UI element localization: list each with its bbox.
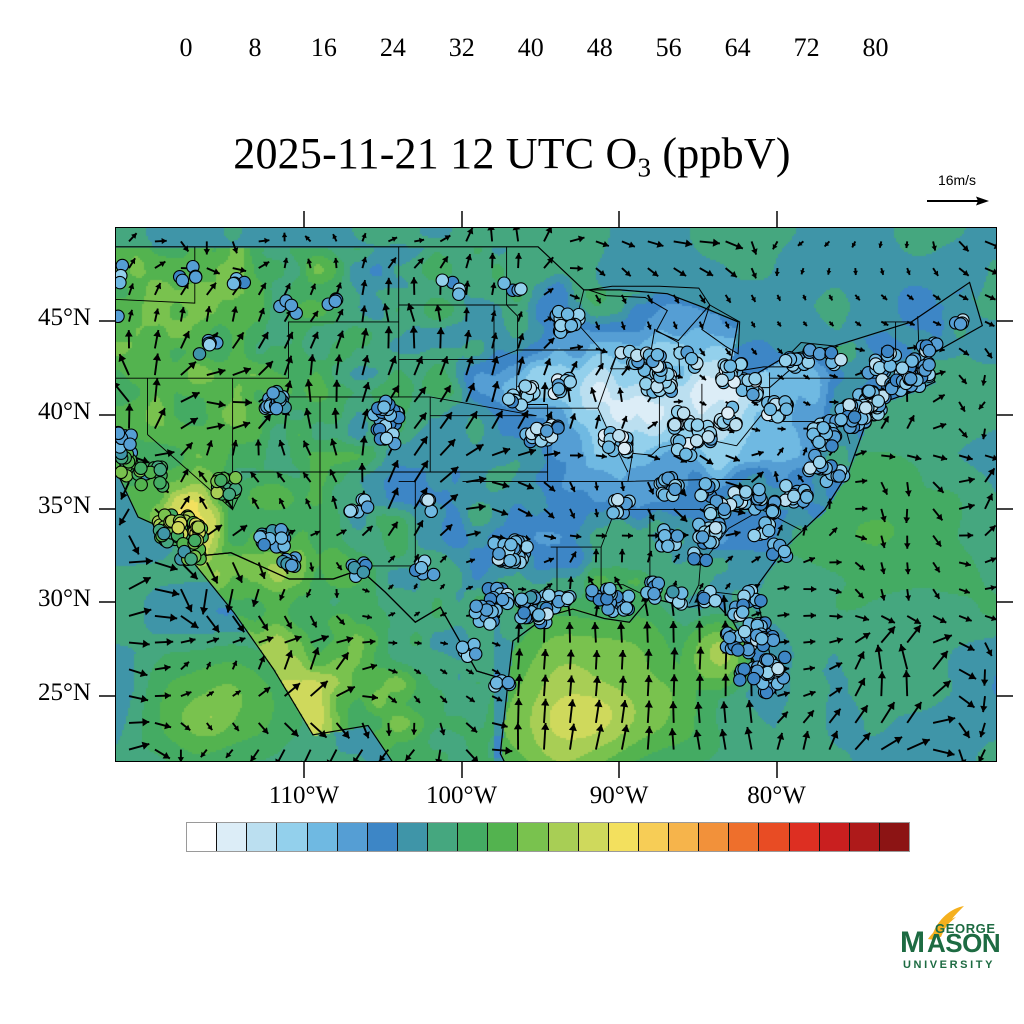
colorbar-cell bbox=[518, 823, 548, 851]
colorbar-cell bbox=[729, 823, 759, 851]
station-marker bbox=[286, 559, 298, 571]
station-marker bbox=[505, 538, 517, 550]
station-marker bbox=[826, 440, 838, 452]
colorbar-tick-label: 32 bbox=[449, 33, 475, 63]
wind-vector-head bbox=[670, 674, 678, 681]
colorbar-cell bbox=[850, 823, 880, 851]
wind-vector-head bbox=[775, 272, 780, 276]
station-marker bbox=[698, 592, 710, 604]
station-marker bbox=[843, 399, 855, 411]
wind-vector-head bbox=[305, 379, 313, 386]
station-marker bbox=[189, 534, 201, 546]
station-marker bbox=[515, 283, 527, 295]
station-marker bbox=[704, 508, 716, 520]
wind-vector-head bbox=[515, 674, 523, 681]
station-marker bbox=[223, 488, 235, 500]
wind-vector-head bbox=[372, 694, 378, 701]
wind-vector-head bbox=[410, 277, 418, 283]
station-marker bbox=[748, 529, 760, 541]
wind-vector-head bbox=[948, 716, 956, 724]
wind-vector-head bbox=[694, 702, 702, 709]
wind-vector-head bbox=[363, 382, 371, 390]
station-marker bbox=[586, 584, 598, 596]
title-subscript: 3 bbox=[638, 153, 652, 183]
wind-vector-head bbox=[492, 381, 500, 389]
wind-vector-head bbox=[596, 724, 604, 732]
station-marker bbox=[923, 359, 935, 371]
colorbar-cell bbox=[790, 823, 820, 851]
station-marker bbox=[863, 385, 875, 397]
longitude-tick bbox=[618, 211, 620, 227]
wind-vector-head bbox=[862, 506, 867, 512]
wind-vector-head bbox=[968, 503, 975, 510]
wind-vector bbox=[327, 750, 336, 762]
wind-vector-head bbox=[899, 644, 907, 652]
station-marker bbox=[718, 503, 730, 515]
station-marker bbox=[772, 662, 784, 674]
latitude-tick bbox=[99, 601, 115, 603]
wind-vector-head bbox=[162, 238, 167, 244]
wind-vector-head bbox=[567, 577, 573, 583]
wind-vector-head bbox=[465, 254, 472, 260]
station-marker bbox=[618, 442, 630, 454]
station-marker bbox=[730, 418, 742, 430]
wind-vector-head bbox=[593, 549, 600, 555]
wind-vector-head bbox=[722, 674, 730, 681]
page-title: 2025-11-21 12 UTC O3 (ppbV) bbox=[0, 128, 1024, 184]
latitude-tick bbox=[99, 320, 115, 322]
wind-vector-head bbox=[695, 621, 703, 628]
latitude-label: 30°N bbox=[0, 585, 91, 613]
wind-vector-head bbox=[541, 699, 549, 706]
colorbar-cell bbox=[428, 823, 458, 851]
station-marker bbox=[172, 522, 184, 534]
station-marker bbox=[651, 349, 663, 361]
wind-vector-head bbox=[358, 463, 366, 470]
wind-vector-head bbox=[333, 380, 341, 387]
wind-vector-head bbox=[644, 649, 652, 656]
latitude-tick bbox=[99, 414, 115, 416]
wind-vector-head bbox=[515, 253, 522, 259]
wind-vector-head bbox=[777, 733, 784, 740]
wind-vector-head bbox=[170, 614, 177, 622]
wind-vector-head bbox=[393, 640, 398, 645]
station-marker bbox=[607, 507, 619, 519]
wind-vector-head bbox=[417, 641, 421, 646]
wind-vector-head bbox=[141, 695, 149, 703]
wind-vector-head bbox=[810, 639, 815, 645]
wind-vector-head bbox=[619, 549, 626, 555]
wind-vector bbox=[516, 228, 519, 241]
station-marker bbox=[193, 348, 205, 360]
station-marker bbox=[270, 402, 282, 414]
station-marker bbox=[603, 441, 615, 453]
wind-vector-head bbox=[143, 640, 150, 648]
wind-vector-head bbox=[678, 399, 683, 404]
wind-vector-head bbox=[362, 355, 370, 363]
state-boundary bbox=[399, 350, 518, 359]
station-marker bbox=[158, 527, 170, 539]
station-marker bbox=[124, 438, 136, 450]
longitude-tick bbox=[303, 211, 305, 227]
latitude-label: 35°N bbox=[0, 492, 91, 520]
wind-vector-head bbox=[578, 236, 585, 243]
station-marker bbox=[215, 474, 227, 486]
wind-vector-head bbox=[514, 723, 522, 730]
station-marker bbox=[229, 472, 241, 484]
station-marker bbox=[716, 374, 728, 386]
wind-vector-head bbox=[308, 354, 316, 361]
wind-vector-head bbox=[968, 532, 974, 539]
wind-vector-head bbox=[617, 622, 625, 629]
station-marker bbox=[778, 545, 790, 557]
wind-vector-head bbox=[669, 728, 677, 735]
ozone-map-figure: 2025-11-21 12 UTC O3 (ppbV) 16m/s 25°N30… bbox=[0, 0, 1024, 1024]
station-marker bbox=[135, 462, 147, 474]
station-observations bbox=[116, 259, 969, 698]
station-marker bbox=[671, 530, 683, 542]
wind-vector-head bbox=[980, 706, 987, 712]
wind-vector-head bbox=[541, 675, 549, 682]
wind-vector-head bbox=[905, 244, 910, 248]
station-marker bbox=[677, 407, 689, 419]
station-marker bbox=[425, 505, 437, 517]
wind-vector-head bbox=[178, 757, 184, 762]
station-marker bbox=[737, 606, 749, 618]
wind-vector-head bbox=[333, 258, 339, 263]
longitude-tick bbox=[303, 762, 305, 778]
station-marker bbox=[833, 470, 845, 482]
station-marker bbox=[723, 631, 735, 643]
wind-vector-head bbox=[167, 638, 174, 646]
colorbar-tick-label: 8 bbox=[248, 33, 261, 63]
station-marker bbox=[275, 532, 287, 544]
wind-vector-head bbox=[514, 698, 522, 705]
state-boundary bbox=[551, 510, 616, 547]
station-marker bbox=[662, 540, 674, 552]
latitude-tick bbox=[99, 508, 115, 510]
station-marker bbox=[503, 393, 515, 405]
station-marker bbox=[766, 505, 778, 517]
station-marker bbox=[699, 478, 711, 490]
station-marker bbox=[470, 648, 482, 660]
station-marker bbox=[905, 373, 917, 385]
wind-vector-head bbox=[437, 327, 445, 334]
wind-vector-head bbox=[811, 586, 816, 593]
colorbar-cell bbox=[277, 823, 307, 851]
station-marker bbox=[669, 483, 681, 495]
station-marker bbox=[700, 554, 712, 566]
station-marker bbox=[817, 422, 829, 434]
wind-vector-head bbox=[505, 747, 512, 755]
wind-vector-head bbox=[245, 398, 252, 406]
station-marker bbox=[562, 592, 574, 604]
station-marker bbox=[285, 299, 297, 311]
state-boundary bbox=[548, 480, 751, 482]
wind-vector-head bbox=[332, 408, 340, 415]
wind-vector-head bbox=[902, 670, 910, 677]
station-marker bbox=[813, 348, 825, 360]
colorbar-cell bbox=[639, 823, 669, 851]
station-marker bbox=[954, 318, 966, 330]
wind-vector-head bbox=[595, 415, 602, 421]
colorbar-tick-label: 48 bbox=[587, 33, 613, 63]
station-marker bbox=[470, 600, 482, 612]
colorbar-cell bbox=[880, 823, 909, 851]
colorbar-swatches bbox=[186, 822, 910, 852]
wind-vector-head bbox=[125, 404, 133, 411]
station-marker bbox=[211, 486, 223, 498]
colorbar-cell bbox=[308, 823, 338, 851]
station-marker bbox=[753, 483, 765, 495]
wind-vector-head bbox=[670, 648, 678, 655]
wind-vector-head bbox=[577, 265, 582, 271]
wind-vector-head bbox=[172, 589, 180, 597]
wind-vector-head bbox=[713, 239, 720, 247]
wind-vector-head bbox=[144, 608, 152, 616]
station-marker bbox=[813, 436, 825, 448]
station-marker bbox=[185, 553, 197, 565]
wind-vector-head bbox=[837, 637, 843, 644]
colorbar-cell bbox=[458, 823, 488, 851]
wind-vector-head bbox=[410, 326, 418, 333]
latitude-label: 45°N bbox=[0, 304, 91, 332]
station-marker bbox=[258, 539, 270, 551]
station-marker bbox=[604, 583, 616, 595]
wind-vector-head bbox=[541, 649, 549, 656]
station-marker bbox=[116, 276, 126, 288]
gmu-logo: M ASON GEORGE UNIVERSITY bbox=[898, 906, 1016, 980]
station-marker bbox=[116, 310, 124, 322]
wind-vector-head bbox=[621, 725, 629, 733]
station-marker bbox=[415, 562, 427, 574]
wind-vector-head bbox=[541, 382, 549, 389]
station-marker bbox=[734, 674, 746, 686]
wind-vector-head bbox=[967, 700, 975, 707]
station-marker bbox=[872, 395, 884, 407]
station-marker bbox=[669, 419, 681, 431]
station-marker bbox=[203, 339, 215, 351]
wind-vector-head bbox=[218, 400, 225, 408]
station-marker bbox=[848, 411, 860, 423]
wind-vector-head bbox=[905, 569, 911, 574]
latitude-tick bbox=[997, 414, 1013, 416]
station-marker bbox=[779, 651, 791, 663]
station-marker bbox=[724, 360, 736, 372]
station-marker bbox=[154, 464, 166, 476]
wind-vector-head bbox=[643, 622, 651, 629]
wind-vector-head bbox=[515, 649, 523, 656]
wind-vector-head bbox=[164, 722, 171, 729]
svg-text:UNIVERSITY: UNIVERSITY bbox=[903, 959, 995, 971]
wind-vector-head bbox=[576, 533, 581, 539]
longitude-tick bbox=[461, 211, 463, 227]
station-marker bbox=[564, 376, 576, 388]
wind-vector-head bbox=[745, 727, 753, 735]
wind-vector-head bbox=[541, 723, 549, 730]
station-marker bbox=[380, 432, 392, 444]
wind-vector-head bbox=[346, 636, 353, 643]
station-marker bbox=[740, 486, 752, 498]
map-frame bbox=[115, 227, 997, 762]
station-marker bbox=[622, 590, 634, 602]
latitude-tick bbox=[997, 508, 1013, 510]
wind-vector-head bbox=[491, 333, 498, 340]
wind-vector-head bbox=[645, 726, 653, 733]
station-marker bbox=[541, 425, 553, 437]
station-marker bbox=[456, 641, 468, 653]
wind-vector-head bbox=[811, 612, 816, 618]
wind-vector-head bbox=[567, 675, 575, 682]
wind-vector-head bbox=[696, 674, 704, 681]
longitude-label: 90°W bbox=[549, 782, 689, 810]
wind-vector-head bbox=[880, 542, 886, 548]
colorbar-tick-label: 56 bbox=[656, 33, 682, 63]
station-marker bbox=[344, 505, 356, 517]
station-marker bbox=[732, 644, 744, 656]
station-marker bbox=[552, 383, 564, 395]
map-panel bbox=[115, 227, 997, 762]
colorbar-cell bbox=[579, 823, 609, 851]
wind-vector-head bbox=[905, 490, 912, 496]
wind-vector-head bbox=[361, 328, 369, 335]
station-marker bbox=[267, 387, 279, 399]
wind-vector-head bbox=[853, 271, 858, 275]
station-marker bbox=[695, 489, 707, 501]
station-marker bbox=[154, 477, 166, 489]
colorbar-cell bbox=[398, 823, 428, 851]
wind-vector-head bbox=[285, 381, 293, 389]
station-marker bbox=[427, 568, 439, 580]
wind-vector-head bbox=[502, 481, 509, 488]
longitude-tick bbox=[776, 211, 778, 227]
station-marker bbox=[504, 555, 516, 567]
colorbar-tick-label: 80 bbox=[863, 33, 889, 63]
wind-vector-head bbox=[669, 621, 677, 628]
station-marker bbox=[648, 588, 660, 600]
wind-vector-head bbox=[204, 249, 210, 254]
station-marker bbox=[813, 456, 825, 468]
svg-text:M: M bbox=[900, 926, 925, 959]
latitude-tick bbox=[997, 601, 1013, 603]
wind-vector-head bbox=[746, 700, 754, 707]
wind-vector-head bbox=[385, 326, 393, 333]
colorbar-tick-label: 72 bbox=[794, 33, 820, 63]
colorbar-cell bbox=[338, 823, 368, 851]
station-marker bbox=[565, 319, 577, 331]
colorbar-cell bbox=[488, 823, 518, 851]
station-marker bbox=[764, 403, 776, 415]
station-marker bbox=[780, 480, 792, 492]
wind-vector-head bbox=[264, 238, 269, 244]
wind-vector-head bbox=[165, 692, 171, 699]
wind-vector-head bbox=[578, 452, 583, 459]
wind-vector-head bbox=[218, 368, 226, 376]
wind-vector bbox=[302, 750, 311, 762]
wind-vector-head bbox=[880, 516, 886, 522]
wind-vector-head bbox=[282, 233, 287, 238]
station-marker bbox=[691, 419, 703, 431]
station-marker bbox=[709, 595, 721, 607]
station-marker bbox=[747, 388, 759, 400]
wind-vector-head bbox=[981, 680, 988, 686]
station-marker bbox=[612, 494, 624, 506]
station-marker bbox=[613, 430, 625, 442]
latitude-tick bbox=[99, 695, 115, 697]
station-marker bbox=[519, 380, 531, 392]
station-marker bbox=[640, 378, 652, 390]
wind-vector-head bbox=[880, 568, 886, 574]
station-marker bbox=[543, 589, 555, 601]
wind-vector-head bbox=[411, 729, 417, 734]
station-marker bbox=[620, 602, 632, 614]
wind-vector-head bbox=[501, 722, 508, 729]
station-marker bbox=[696, 531, 708, 543]
svg-text:GEORGE: GEORGE bbox=[935, 921, 996, 936]
station-marker bbox=[192, 521, 204, 533]
station-marker bbox=[780, 403, 792, 415]
station-marker bbox=[779, 354, 791, 366]
wind-key-label: 16m/s bbox=[919, 172, 995, 188]
wind-vector-head bbox=[419, 413, 426, 421]
station-marker bbox=[533, 609, 545, 621]
station-marker bbox=[691, 435, 703, 447]
wind-vector-head bbox=[487, 228, 495, 231]
station-marker bbox=[361, 501, 373, 513]
wind-vector-head bbox=[382, 304, 390, 311]
station-marker bbox=[135, 478, 147, 490]
wind-vector-head bbox=[966, 455, 972, 462]
wind-vector-head bbox=[386, 730, 392, 736]
wind-vector-head bbox=[965, 561, 971, 567]
station-marker bbox=[835, 413, 847, 425]
wind-vector-head bbox=[128, 310, 134, 316]
colorbar bbox=[186, 822, 910, 884]
colorbar-cell bbox=[549, 823, 579, 851]
wind-vector-head bbox=[696, 647, 704, 654]
wind-vector-head bbox=[784, 639, 789, 645]
station-marker bbox=[357, 566, 369, 578]
wind-vector-head bbox=[330, 439, 337, 446]
station-marker bbox=[702, 431, 714, 443]
wind-vector-head bbox=[463, 308, 470, 314]
wind-vector-head bbox=[837, 613, 843, 619]
station-marker bbox=[116, 466, 127, 478]
wind-vector-head bbox=[522, 587, 526, 592]
wind-vector-head bbox=[334, 593, 339, 598]
station-marker bbox=[176, 274, 188, 286]
wind-vector-head bbox=[568, 699, 576, 706]
station-marker bbox=[378, 401, 390, 413]
station-marker bbox=[453, 288, 465, 300]
wind-vector-head bbox=[941, 454, 947, 461]
station-marker bbox=[561, 308, 573, 320]
station-marker bbox=[436, 274, 448, 286]
station-marker bbox=[722, 407, 734, 419]
wind-vector-head bbox=[904, 543, 911, 548]
wind-vector-head bbox=[142, 742, 150, 750]
latitude-tick bbox=[997, 320, 1013, 322]
colorbar-cell bbox=[669, 823, 699, 851]
colorbar-tick-label: 24 bbox=[380, 33, 406, 63]
wind-vector-head bbox=[781, 426, 786, 431]
station-marker bbox=[710, 522, 722, 534]
station-marker bbox=[116, 427, 125, 439]
wind-vector-key: 16m/s bbox=[919, 172, 1015, 212]
wind-vector-head bbox=[146, 557, 153, 565]
station-marker bbox=[552, 422, 564, 434]
wind-vector-head bbox=[153, 330, 161, 337]
